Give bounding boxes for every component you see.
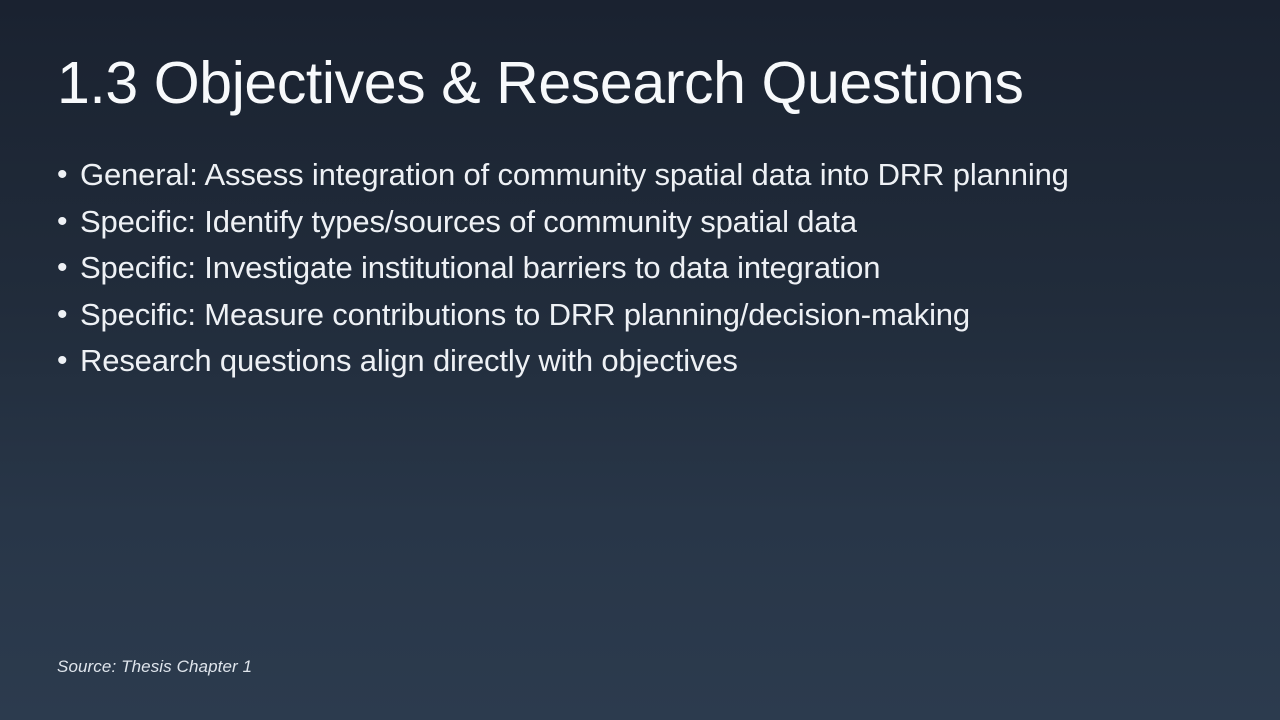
bullet-point-icon: • bbox=[57, 338, 80, 385]
list-item-text: Specific: Investigate institutional barr… bbox=[80, 245, 880, 292]
bullet-point-icon: • bbox=[57, 199, 80, 246]
presentation-slide: 1.3 Objectives & Research Questions • Ge… bbox=[0, 0, 1280, 720]
list-item-text: Specific: Identify types/sources of comm… bbox=[80, 199, 857, 246]
list-item-text: Specific: Measure contributions to DRR p… bbox=[80, 292, 970, 339]
list-item-text: Research questions align directly with o… bbox=[80, 338, 738, 385]
list-item: • General: Assess integration of communi… bbox=[57, 152, 1227, 199]
list-item: • Specific: Investigate institutional ba… bbox=[57, 245, 1227, 292]
source-citation: Source: Thesis Chapter 1 bbox=[57, 657, 252, 677]
list-item-text: General: Assess integration of community… bbox=[80, 152, 1069, 199]
bullet-point-icon: • bbox=[57, 152, 80, 199]
bullet-point-icon: • bbox=[57, 292, 80, 339]
slide-title: 1.3 Objectives & Research Questions bbox=[57, 52, 1024, 116]
bullet-point-icon: • bbox=[57, 245, 80, 292]
objectives-bullet-list: • General: Assess integration of communi… bbox=[57, 152, 1227, 385]
list-item: • Research questions align directly with… bbox=[57, 338, 1227, 385]
list-item: • Specific: Measure contributions to DRR… bbox=[57, 292, 1227, 339]
list-item: • Specific: Identify types/sources of co… bbox=[57, 199, 1227, 246]
